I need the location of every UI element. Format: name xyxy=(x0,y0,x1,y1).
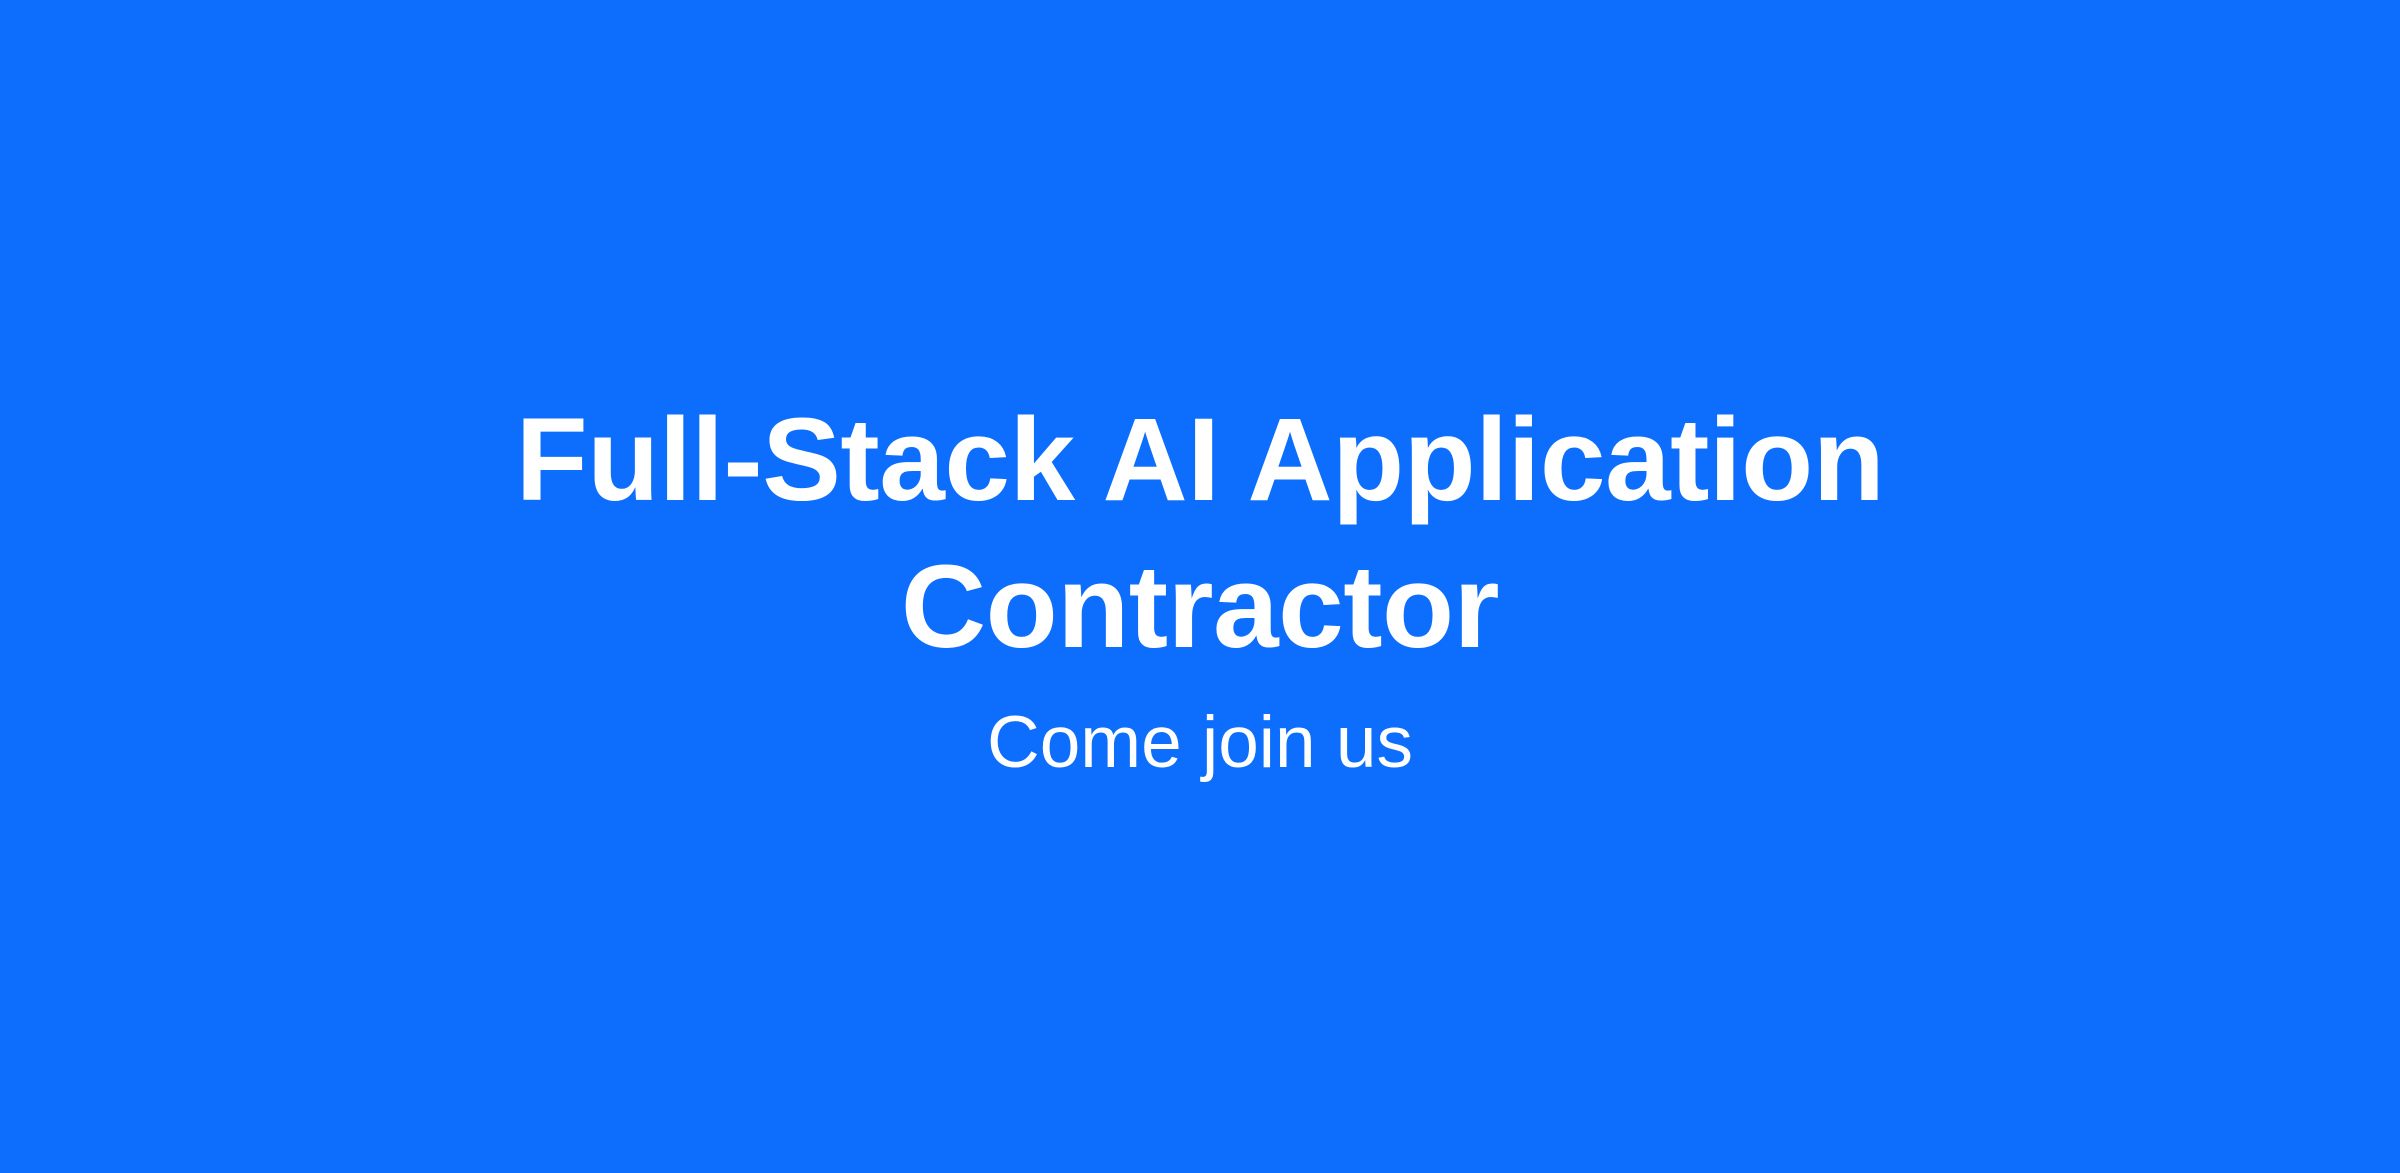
hero-content: Full-Stack AI Application Contractor Com… xyxy=(475,387,1925,786)
hero-banner: Full-Stack AI Application Contractor Com… xyxy=(0,0,2400,1173)
page-title: Full-Stack AI Application Contractor xyxy=(475,387,1925,681)
hero-subtitle: Come join us xyxy=(987,699,1413,787)
